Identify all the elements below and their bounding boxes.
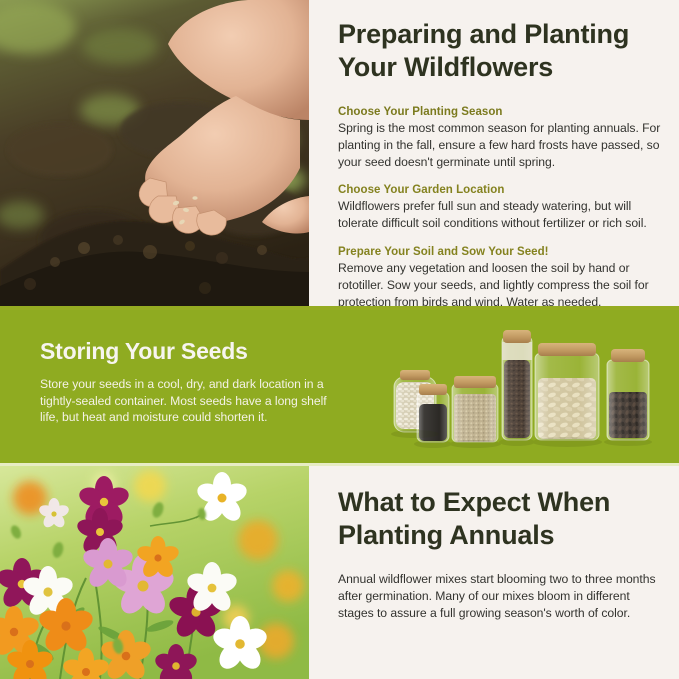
- wildflower-bouquet-photo: [0, 466, 309, 679]
- what-to-expect-title: What to Expect When Planting Annuals: [338, 466, 663, 552]
- wildflowers-illustration: [0, 466, 309, 679]
- seed-jars-illustration: [380, 322, 670, 462]
- storing-seeds-title: Storing Your Seeds: [40, 338, 330, 365]
- jar-tan-grain: [452, 376, 498, 442]
- body-garden-location: Wildflowers prefer full sun and steady w…: [338, 198, 668, 232]
- section-what-to-expect: What to Expect When Planting Annuals Ann…: [0, 466, 679, 679]
- subheading-prepare-soil: Prepare Your Soil and Sow Your Seed!: [338, 245, 668, 260]
- storing-seeds-body: Store your seeds in a cool, dry, and dar…: [40, 376, 330, 426]
- text-block-prepare-soil: Prepare Your Soil and Sow Your Seed! Rem…: [338, 245, 668, 310]
- section3-text-column: What to Expect When Planting Annuals Ann…: [338, 466, 663, 634]
- what-to-expect-body: Annual wildflower mixes start blooming t…: [338, 571, 663, 621]
- text-block-garden-location: Choose Your Garden Location Wildflowers …: [338, 183, 668, 232]
- section1-text-column: Preparing and Planting Your Wildflowers …: [338, 0, 668, 310]
- body-planting-season: Spring is the most common season for pla…: [338, 120, 668, 170]
- jar-pumpkin-seeds: [535, 343, 599, 440]
- jar-sunflower-seeds: [607, 349, 649, 440]
- subheading-garden-location: Choose Your Garden Location: [338, 183, 668, 198]
- text-block-planting-season: Choose Your Planting Season Spring is th…: [338, 105, 668, 170]
- soil-hand-illustration: [0, 0, 309, 310]
- hand-sowing-seeds-photo: [0, 0, 309, 310]
- page-title: Preparing and Planting Your Wildflowers: [338, 0, 668, 84]
- seed-jars-photo: [380, 322, 670, 462]
- body-prepare-soil: Remove any vegetation and loosen the soi…: [338, 260, 668, 310]
- subheading-planting-season: Choose Your Planting Season: [338, 105, 668, 120]
- infographic-page: Preparing and Planting Your Wildflowers …: [0, 0, 679, 679]
- jar-tall-dark-seeds: [502, 330, 532, 440]
- section-preparing-and-planting: Preparing and Planting Your Wildflowers …: [0, 0, 679, 310]
- section2-text-column: Storing Your Seeds Store your seeds in a…: [40, 338, 330, 426]
